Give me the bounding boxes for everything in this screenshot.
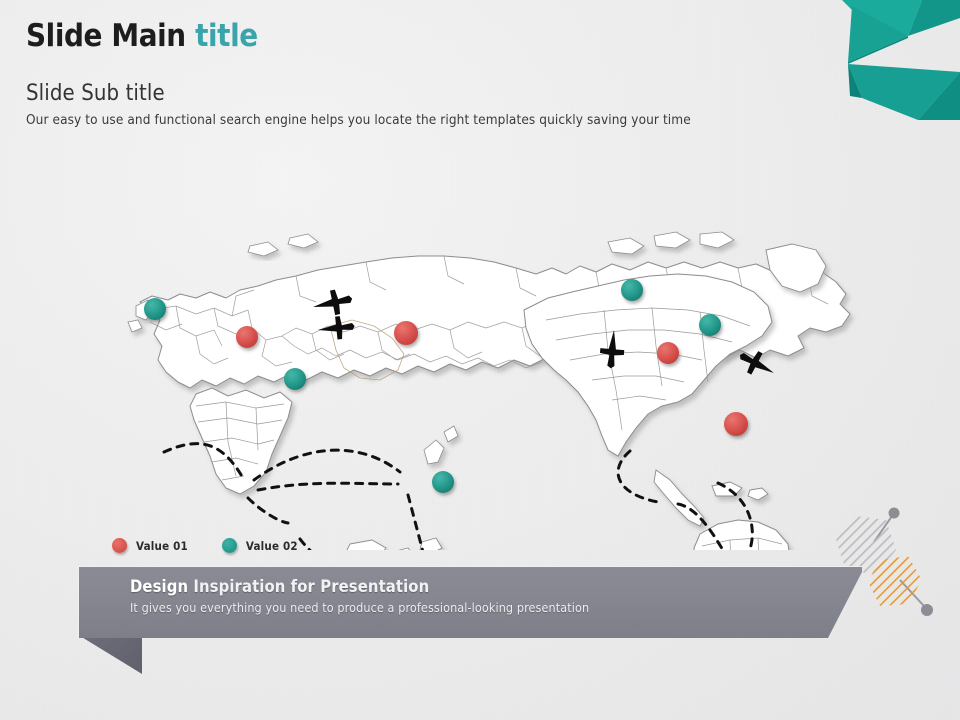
- world-map: [0, 150, 960, 550]
- page-title: Slide Main title: [26, 20, 691, 53]
- page-title-primary: Slide Main: [26, 18, 186, 54]
- legend-item-value-01[interactable]: Value 01: [112, 538, 188, 553]
- banner-subtitle: It gives you everything you need to prod…: [130, 600, 790, 615]
- banner-title-strong: Design: [130, 577, 188, 596]
- legend-label-value-02: Value 02: [246, 539, 298, 553]
- map-marker-north-america-south[interactable]: [657, 342, 679, 364]
- slide-canvas: Slide Main title Slide Sub title Our eas…: [0, 0, 960, 720]
- top-right-geometric-decoration: [790, 0, 960, 120]
- map-marker-south-america[interactable]: [724, 412, 748, 436]
- banner-title: Design Inspiration for Presentation: [130, 577, 790, 596]
- banner-text-block: Design Inspiration for Presentation It g…: [130, 577, 790, 615]
- map-marker-western-europe[interactable]: [144, 298, 166, 320]
- map-marker-north-america-east[interactable]: [699, 314, 721, 336]
- header-block: Slide Main title Slide Sub title Our eas…: [26, 20, 691, 128]
- world-map-svg: [0, 150, 960, 550]
- banner-title-light: Inspiration for Presentation: [193, 577, 429, 596]
- map-marker-south-asia[interactable]: [284, 368, 306, 390]
- legend-label-value-01: Value 01: [136, 539, 188, 553]
- page-description: Our easy to use and functional search en…: [26, 112, 691, 128]
- page-title-accent: title: [195, 18, 258, 54]
- legend-item-value-02[interactable]: Value 02: [222, 538, 298, 553]
- map-marker-middle-east[interactable]: [236, 326, 258, 348]
- map-marker-australia[interactable]: [432, 471, 454, 493]
- legend-dot-teal-icon: [222, 538, 237, 553]
- banner-fold-tail: [80, 636, 152, 676]
- page-subtitle: Slide Sub title: [26, 81, 691, 106]
- map-marker-north-america-west[interactable]: [621, 279, 643, 301]
- map-marker-east-asia[interactable]: [394, 321, 418, 345]
- map-legend: Value 01 Value 02: [112, 538, 298, 553]
- bottom-banner: Design Inspiration for Presentation It g…: [78, 566, 862, 676]
- legend-dot-red-icon: [112, 538, 127, 553]
